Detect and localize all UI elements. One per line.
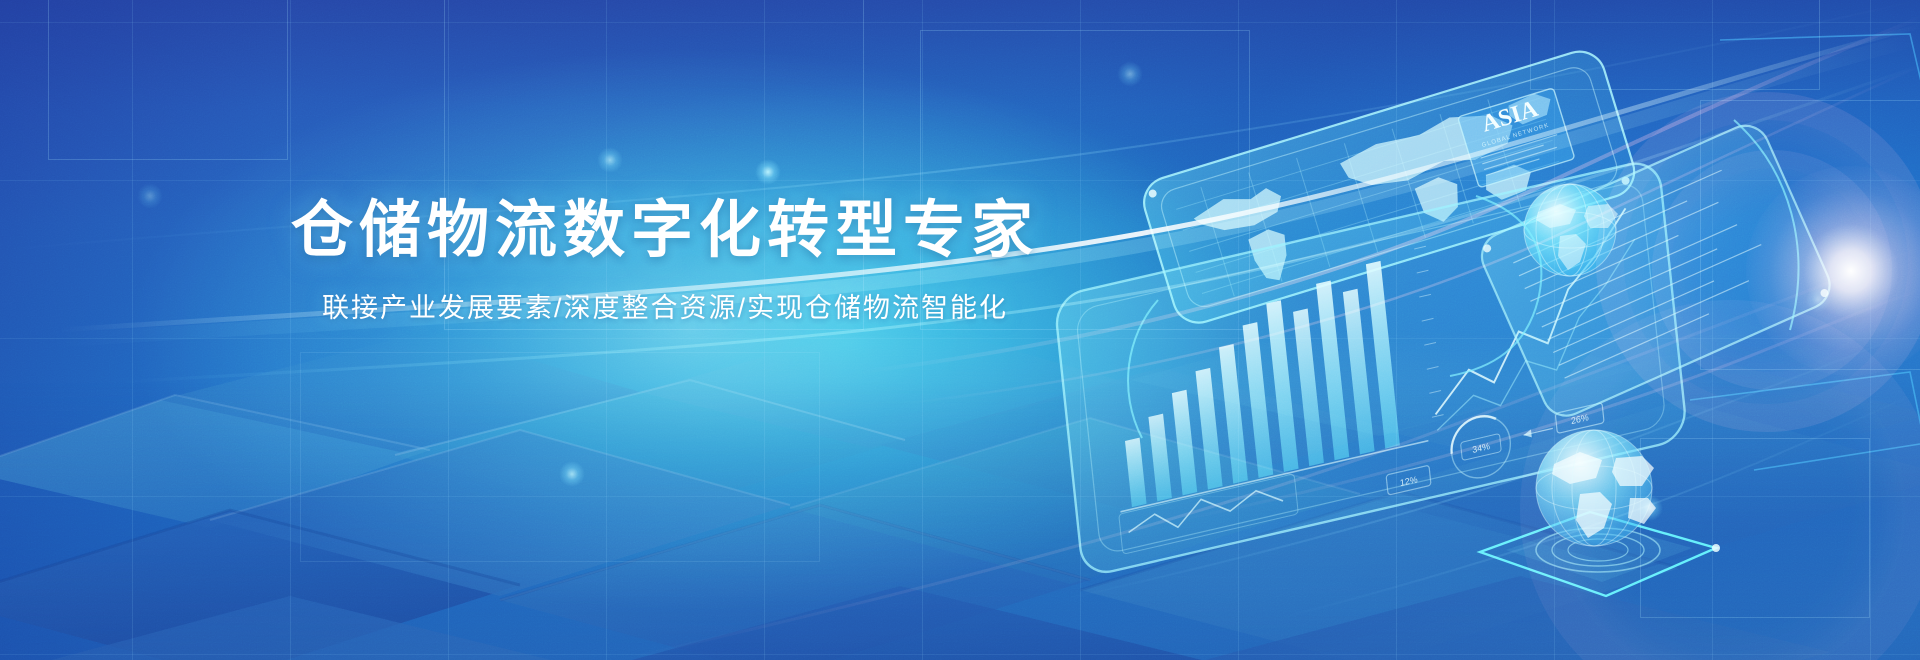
holographic-tech-cluster: ASIA GLOBAL NETWORK [1030,0,1920,660]
holo-asia-sublabel: GLOBAL NETWORK [1481,123,1550,149]
background-bottom-shade [0,0,1920,660]
svg-text:34%: 34% [1472,441,1491,455]
page-subtitle: 联接产业发展要素/深度整合资源/实现仓储物流智能化 [0,291,1330,326]
holo-asia-label: ASIA [1479,96,1542,138]
holo-globe-platform [1480,430,1720,596]
center-glow [0,0,1920,660]
holo-text-lines [1513,168,1778,378]
background-left-shade [0,0,1920,660]
grid-glow-dots [0,0,1920,660]
technical-grid [0,0,1920,660]
background-top-shade [0,0,1920,660]
technical-grid-boxes [0,0,1920,660]
background-gradient [0,0,1920,660]
grain-texture [0,0,1920,660]
hero-banner: ASIA GLOBAL NETWORK [0,0,1920,660]
light-streaks [0,0,1920,660]
hero-copy: 仓储物流数字化转型专家 联接产业发展要素/深度整合资源/实现仓储物流智能化 [0,196,1330,327]
svg-text:12%: 12% [1399,474,1418,488]
page-title: 仓储物流数字化转型专家 [0,196,1330,265]
lens-flare [0,0,1920,660]
holo-globe-upper [1524,184,1618,276]
isometric-tiles [0,0,1920,660]
svg-text:26%: 26% [1571,412,1590,426]
